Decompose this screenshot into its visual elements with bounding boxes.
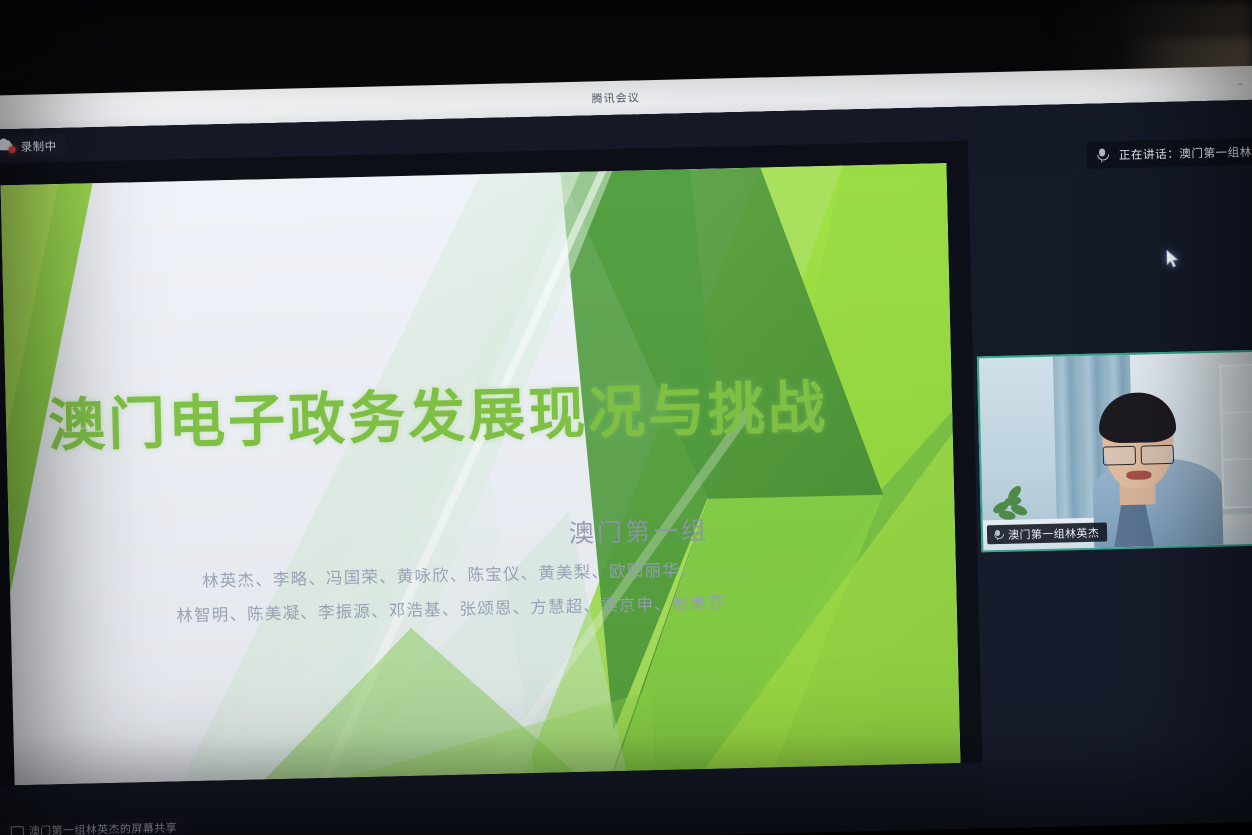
participant-name-tag: 澳门第一组林英杰: [987, 522, 1108, 544]
slide-background-graphics: [1, 163, 961, 785]
slide-subtitle: 澳门第一组: [568, 511, 709, 550]
monitor-screen: 腾讯会议 – ▫ 录制中: [0, 0, 1252, 835]
presentation-slide[interactable]: 澳门电子政务发展现况与挑战 澳门第一组 林英杰、李略、冯国荣、黄咏欣、陈宝仪、黄…: [1, 163, 961, 785]
bookshelf: [1219, 363, 1252, 508]
panel-stage: 正在讲话：澳门第一组林英杰: [967, 99, 1252, 358]
plant-icon: [990, 488, 1031, 523]
screen-share-icon: [11, 826, 24, 835]
microphone-icon: [1095, 147, 1109, 162]
glasses-icon: [1103, 446, 1174, 465]
minimize-button[interactable]: –: [1237, 77, 1243, 90]
speaking-label: 正在讲话：澳门第一组林英杰: [1119, 143, 1252, 163]
screen-share-label: 澳门第一组林英杰的屏幕共享: [29, 819, 178, 835]
app-title: 腾讯会议: [591, 89, 639, 106]
participant-video-thumbnail[interactable]: 澳门第一组林英杰: [977, 349, 1252, 552]
cloud-record-icon: [0, 140, 16, 153]
participant-name-label: 澳门第一组林英杰: [1008, 524, 1100, 542]
speaking-indicator: 正在讲话：澳门第一组林英杰: [1087, 137, 1252, 169]
screenshot-root: 腾讯会议 – ▫ 录制中: [0, 0, 1252, 835]
mouse-pointer-icon: [1166, 250, 1179, 269]
facet-theme-shapes: [1, 163, 961, 785]
meeting-window-body: 录制中: [0, 99, 1252, 835]
participant-panel: 正在讲话：澳门第一组林英杰: [967, 99, 1252, 828]
video-scene: [979, 351, 1252, 550]
shared-screen-area: 录制中: [0, 107, 984, 835]
screen-share-tag: 澳门第一组林英杰的屏幕共享: [6, 817, 186, 835]
recording-label: 录制中: [20, 138, 56, 155]
panel-empty-area: [977, 545, 1252, 828]
window-controls[interactable]: – ▫: [1237, 66, 1252, 101]
microphone-icon: [992, 528, 1003, 540]
recording-badge[interactable]: 录制中: [0, 134, 66, 159]
